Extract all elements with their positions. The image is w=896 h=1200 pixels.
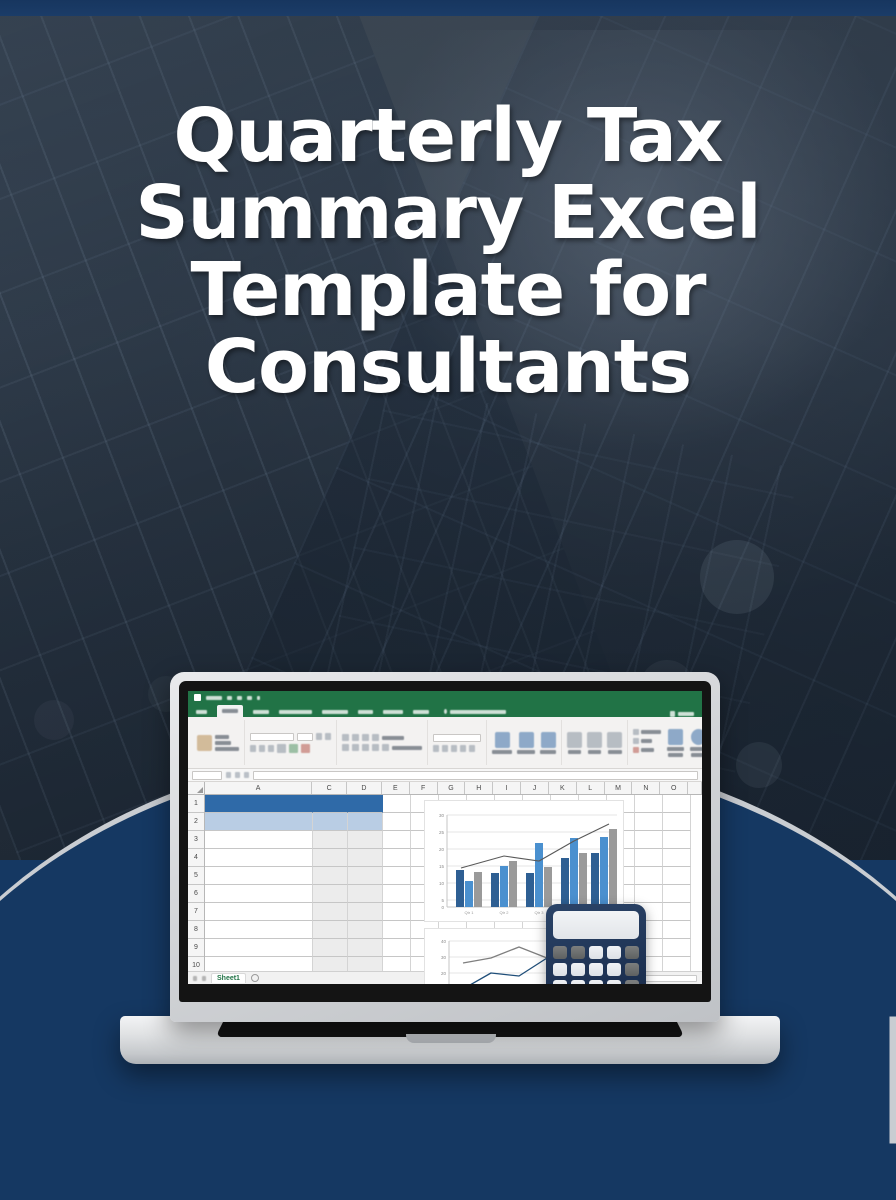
- cell-D3[interactable]: [348, 831, 383, 849]
- column-header-P[interactable]: [688, 782, 702, 794]
- cell-C8[interactable]: [313, 921, 348, 939]
- row-header-5[interactable]: 5: [188, 867, 204, 885]
- column-header-J[interactable]: J: [521, 782, 549, 794]
- cell-O6[interactable]: [663, 885, 691, 903]
- fill-color-icon[interactable]: [289, 744, 298, 753]
- formula-bar-row[interactable]: [188, 769, 702, 782]
- svg-text:20: 20: [439, 847, 445, 852]
- italic-icon[interactable]: [259, 745, 265, 752]
- font-size-field[interactable]: [297, 733, 313, 741]
- svg-text:0: 0: [441, 905, 444, 910]
- cell-O1[interactable]: [663, 795, 691, 813]
- row-header-column[interactable]: 1 2 3 4 5 6 7 8 9 10 11: [188, 795, 205, 971]
- svg-text:10: 10: [439, 881, 445, 886]
- cell-E3[interactable]: [383, 831, 411, 849]
- ribbon-group-cells[interactable]: [562, 720, 628, 765]
- cell-A10[interactable]: [205, 957, 313, 971]
- clear-icon[interactable]: [633, 747, 639, 753]
- increase-font-icon[interactable]: [316, 733, 322, 740]
- row-header-7[interactable]: 7: [188, 903, 204, 921]
- column-header-C[interactable]: C: [312, 782, 347, 794]
- column-header-O[interactable]: O: [660, 782, 688, 794]
- cell-D5[interactable]: [348, 867, 383, 885]
- cell-D6[interactable]: [348, 885, 383, 903]
- svg-text:40: 40: [441, 939, 447, 944]
- confirm-entry-icon[interactable]: [235, 772, 240, 778]
- row-header-1[interactable]: 1: [188, 795, 204, 813]
- ribbon-group-alignment[interactable]: [337, 720, 428, 765]
- calc-key[interactable]: [571, 963, 585, 976]
- calc-key[interactable]: [571, 980, 585, 984]
- insert-cells-icon[interactable]: [567, 732, 582, 748]
- bokeh-4: [34, 700, 74, 740]
- column-header-A[interactable]: A: [205, 782, 312, 794]
- ribbon-group-clipboard[interactable]: [192, 720, 245, 765]
- align-top-icon[interactable]: [342, 734, 349, 741]
- cell-C9[interactable]: [313, 939, 348, 957]
- cell-A6[interactable]: [205, 885, 313, 903]
- cell-C1[interactable]: [313, 795, 348, 813]
- cell-E5[interactable]: [383, 867, 411, 885]
- cell-D8[interactable]: [348, 921, 383, 939]
- sort-filter-icon[interactable]: [668, 729, 683, 745]
- cell-N5[interactable]: [635, 867, 663, 885]
- cell-E8[interactable]: [383, 921, 411, 939]
- tab-data[interactable]: [358, 706, 373, 717]
- calc-key[interactable]: [553, 980, 567, 984]
- fill-icon[interactable]: [633, 738, 639, 744]
- cell-C7[interactable]: [313, 903, 348, 921]
- borders-icon[interactable]: [277, 744, 286, 753]
- cell-A3[interactable]: [205, 831, 313, 849]
- calc-key-equals[interactable]: [625, 980, 639, 984]
- font-name-field[interactable]: [250, 733, 294, 741]
- cell-styles-icon[interactable]: [541, 732, 556, 748]
- increase-decimal-icon[interactable]: [460, 745, 466, 752]
- row-header-9[interactable]: 9: [188, 939, 204, 957]
- tab-file[interactable]: [196, 706, 207, 717]
- formula-input[interactable]: [253, 771, 698, 780]
- format-as-table-icon[interactable]: [519, 732, 534, 748]
- paste-icon[interactable]: [197, 735, 212, 751]
- decrease-decimal-icon[interactable]: [469, 745, 475, 752]
- excel-title-bar: [188, 691, 702, 704]
- decrease-font-icon[interactable]: [325, 733, 331, 740]
- quick-access-undo-icon[interactable]: [237, 696, 242, 700]
- column-header-D[interactable]: D: [347, 782, 382, 794]
- cell-C10[interactable]: [313, 957, 348, 971]
- cell-N6[interactable]: [635, 885, 663, 903]
- tab-insert[interactable]: [253, 706, 269, 717]
- cell-D4[interactable]: [348, 849, 383, 867]
- poster-title-line-3: Template for: [70, 252, 826, 329]
- calculator-display: [553, 911, 639, 939]
- ribbon-group-number[interactable]: [428, 720, 487, 765]
- column-header-F[interactable]: F: [410, 782, 438, 794]
- cell-C3[interactable]: [313, 831, 348, 849]
- calc-key[interactable]: [589, 980, 603, 984]
- laptop-trackpad-notch: [406, 1034, 496, 1043]
- column-header-E[interactable]: E: [382, 782, 410, 794]
- cell-C6[interactable]: [313, 885, 348, 903]
- cell-N4[interactable]: [635, 849, 663, 867]
- tab-formulas[interactable]: [322, 706, 348, 717]
- calc-key[interactable]: [589, 946, 603, 959]
- calc-key[interactable]: [607, 946, 621, 959]
- top-navy-band: [0, 0, 896, 16]
- find-select-icon[interactable]: [691, 729, 702, 745]
- calc-key[interactable]: [607, 963, 621, 976]
- svg-text:30: 30: [439, 813, 445, 818]
- cell-O5[interactable]: [663, 867, 691, 885]
- svg-text:30: 30: [441, 955, 447, 960]
- cell-C5[interactable]: [313, 867, 348, 885]
- poster-title-line-2: Summary Excel: [70, 175, 826, 252]
- ribbon-group-styles[interactable]: [487, 720, 562, 765]
- prev-sheet-icon[interactable]: [193, 976, 197, 981]
- ribbon-group-font[interactable]: [245, 720, 337, 765]
- cell-A9[interactable]: [205, 939, 313, 957]
- cell-C2[interactable]: [313, 813, 348, 831]
- column-header-K[interactable]: K: [549, 782, 577, 794]
- calc-key[interactable]: [553, 963, 567, 976]
- row-header-2[interactable]: 2: [188, 813, 204, 831]
- align-center-icon[interactable]: [352, 744, 359, 751]
- indent-increase-icon[interactable]: [382, 744, 389, 751]
- next-sheet-icon[interactable]: [202, 976, 206, 981]
- cell-A5[interactable]: [205, 867, 313, 885]
- svg-text:5: 5: [441, 898, 444, 903]
- cancel-entry-icon[interactable]: [226, 772, 231, 778]
- cell-E4[interactable]: [383, 849, 411, 867]
- name-box[interactable]: [192, 771, 222, 780]
- tell-me-search[interactable]: [444, 706, 506, 717]
- orientation-icon[interactable]: [372, 734, 379, 741]
- column-header-I[interactable]: I: [493, 782, 521, 794]
- calc-key[interactable]: [589, 963, 603, 976]
- ribbon-home-tab[interactable]: [188, 717, 702, 769]
- align-right-icon[interactable]: [362, 744, 369, 751]
- column-header-M[interactable]: M: [605, 782, 633, 794]
- poster-page: Quarterly Tax Summary Excel Template for…: [0, 0, 896, 1200]
- cell-O8[interactable]: [663, 921, 691, 939]
- column-header-N[interactable]: N: [632, 782, 660, 794]
- svg-text:Qtr 1: Qtr 1: [465, 910, 475, 915]
- cell-A4[interactable]: [205, 849, 313, 867]
- poster-title-line-1: Quarterly Tax: [70, 98, 826, 175]
- svg-text:Qtr 2: Qtr 2: [500, 910, 510, 915]
- row-header-4[interactable]: 4: [188, 849, 204, 867]
- cell-E9[interactable]: [383, 939, 411, 957]
- cell-A2[interactable]: [205, 813, 313, 831]
- cell-A8[interactable]: [205, 921, 313, 939]
- svg-text:25: 25: [439, 830, 445, 835]
- svg-text:20: 20: [441, 971, 447, 976]
- column-header-H[interactable]: H: [465, 782, 493, 794]
- calc-key[interactable]: [625, 963, 639, 976]
- cell-E1[interactable]: [383, 795, 411, 813]
- calc-key[interactable]: [571, 946, 585, 959]
- conditional-formatting-icon[interactable]: [495, 732, 510, 748]
- align-bottom-icon[interactable]: [362, 734, 369, 741]
- quick-access-redo-icon[interactable]: [247, 696, 252, 700]
- row-header-3[interactable]: 3: [188, 831, 204, 849]
- cell-C4[interactable]: [313, 849, 348, 867]
- cell-D1[interactable]: [348, 795, 383, 813]
- autosave-toggle[interactable]: [206, 696, 222, 700]
- excel-logo-icon: [194, 694, 201, 701]
- excel-window: A C D E F G H I J K L M N: [188, 691, 702, 984]
- align-left-icon[interactable]: [342, 744, 349, 751]
- column-header-row[interactable]: A C D E F G H I J K L M N: [188, 782, 702, 795]
- calculator-keypad[interactable]: [553, 946, 639, 984]
- poster-title-line-4: Consultants: [70, 329, 826, 406]
- align-middle-icon[interactable]: [352, 734, 359, 741]
- cell-O10[interactable]: [663, 957, 691, 971]
- ribbon-group-editing[interactable]: [628, 720, 702, 765]
- laptop-mockup: A C D E F G H I J K L M N: [120, 664, 780, 1084]
- comma-icon[interactable]: [451, 745, 457, 752]
- cell-O2[interactable]: [663, 813, 691, 831]
- tab-review[interactable]: [383, 706, 403, 717]
- calculator-overlay[interactable]: [546, 904, 646, 984]
- tab-page-layout[interactable]: [279, 706, 312, 717]
- ribbon-tab-strip[interactable]: [188, 704, 702, 717]
- cell-O9[interactable]: [663, 939, 691, 957]
- bold-icon[interactable]: [250, 745, 256, 752]
- cell-O3[interactable]: [663, 831, 691, 849]
- cell-D2[interactable]: [348, 813, 383, 831]
- underline-icon[interactable]: [268, 745, 274, 752]
- poster-title-block: Quarterly Tax Summary Excel Template for…: [0, 98, 896, 406]
- add-sheet-icon[interactable]: [251, 974, 259, 982]
- delete-cells-icon[interactable]: [587, 732, 602, 748]
- cell-N3[interactable]: [635, 831, 663, 849]
- bokeh-1: [700, 540, 774, 614]
- cell-O4[interactable]: [663, 849, 691, 867]
- percent-icon[interactable]: [442, 745, 448, 752]
- format-cells-icon[interactable]: [607, 732, 622, 748]
- svg-text:Qtr 3: Qtr 3: [535, 910, 545, 915]
- cell-E10[interactable]: [383, 957, 411, 971]
- cell-D7[interactable]: [348, 903, 383, 921]
- cell-D9[interactable]: [348, 939, 383, 957]
- number-format-select[interactable]: [433, 734, 481, 742]
- cell-A7[interactable]: [205, 903, 313, 921]
- insert-function-icon[interactable]: [244, 772, 249, 778]
- autosum-icon[interactable]: [633, 729, 639, 735]
- share-button[interactable]: [670, 711, 694, 717]
- indent-decrease-icon[interactable]: [372, 744, 379, 751]
- tab-view[interactable]: [413, 706, 429, 717]
- sheet-tab-sheet1[interactable]: Sheet1: [211, 973, 246, 983]
- tab-home[interactable]: [217, 705, 243, 717]
- cell-E7[interactable]: [383, 903, 411, 921]
- currency-icon[interactable]: [433, 745, 439, 752]
- cell-N1[interactable]: [635, 795, 663, 813]
- cell-N2[interactable]: [635, 813, 663, 831]
- column-header-L[interactable]: L: [577, 782, 605, 794]
- select-all-corner[interactable]: [188, 782, 205, 794]
- column-header-G[interactable]: G: [438, 782, 466, 794]
- font-color-icon[interactable]: [301, 744, 310, 753]
- laptop-lid: A C D E F G H I J K L M N: [170, 672, 720, 1022]
- row-header-10[interactable]: 10: [188, 957, 204, 971]
- calc-key[interactable]: [553, 946, 567, 959]
- row-header-8[interactable]: 8: [188, 921, 204, 939]
- screen-bezel: A C D E F G H I J K L M N: [179, 681, 711, 1002]
- cell-E2[interactable]: [383, 813, 411, 831]
- cell-O7[interactable]: [663, 903, 691, 921]
- cell-A1[interactable]: [205, 795, 313, 813]
- svg-text:15: 15: [439, 864, 445, 869]
- worksheet-area[interactable]: A C D E F G H I J K L M N: [188, 782, 702, 971]
- cell-D10[interactable]: [348, 957, 383, 971]
- row-header-6[interactable]: 6: [188, 885, 204, 903]
- calc-key[interactable]: [625, 946, 639, 959]
- quick-access-more-icon[interactable]: [257, 696, 260, 700]
- cell-E6[interactable]: [383, 885, 411, 903]
- quick-access-save-icon[interactable]: [227, 696, 232, 700]
- calc-key[interactable]: [607, 980, 621, 984]
